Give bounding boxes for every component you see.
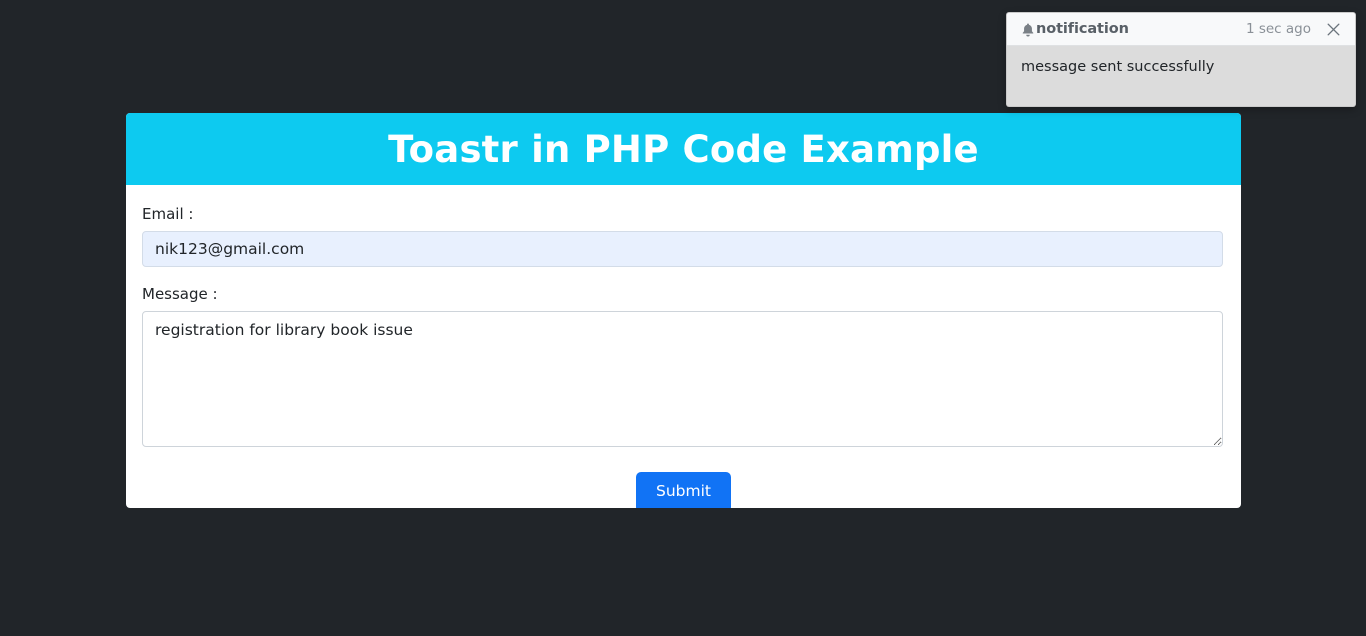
message-textarea[interactable] [142,311,1223,447]
toast-body-message: message sent successfully [1007,46,1355,88]
message-label: Message : [142,285,1225,303]
toast-header: notification 1 sec ago [1007,13,1355,46]
email-form-group: Email : [142,205,1225,267]
card-header: Toastr in PHP Code Example [126,113,1241,185]
page-card: Toastr in PHP Code Example Email : Messa… [126,113,1241,508]
contact-form: Email : Message : Submit [142,205,1225,508]
page-title: Toastr in PHP Code Example [388,131,979,168]
toast-title: notification [1036,21,1129,37]
close-icon[interactable] [1323,19,1343,39]
submit-row: Submit [142,472,1225,508]
message-form-group: Message : [142,285,1225,447]
toast-timestamp: 1 sec ago [1246,21,1323,37]
email-input[interactable] [142,231,1223,267]
bell-icon [1021,22,1035,37]
submit-button[interactable]: Submit [636,472,731,508]
email-label: Email : [142,205,1225,223]
card-body: Email : Message : Submit [126,185,1241,508]
toast-notification: notification 1 sec ago message sent succ… [1006,12,1356,107]
